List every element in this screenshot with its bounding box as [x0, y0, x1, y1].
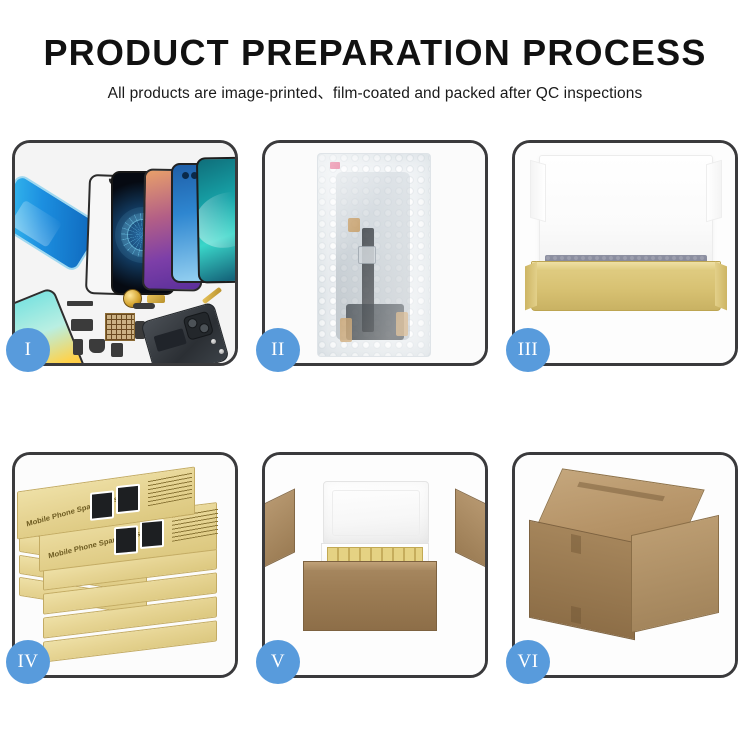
screw-tray-part: [105, 313, 135, 341]
flex-strip-part: [67, 301, 93, 306]
carton-body: [303, 561, 437, 631]
bubble-wrap-bag: [317, 153, 431, 357]
step-badge-ii: II: [256, 328, 300, 372]
step-panel-vi[interactable]: VI: [512, 452, 738, 678]
step-panel-v[interactable]: V: [262, 452, 488, 678]
carton-flap-right: [455, 488, 485, 577]
phone-back-housing: [140, 302, 230, 363]
step-image-i: [15, 143, 235, 363]
step-image-v: [265, 455, 485, 675]
step-badge-iv: IV: [6, 640, 50, 684]
carton-side-face: [631, 515, 719, 633]
step-panel-i[interactable]: I: [12, 140, 238, 366]
step-image-ii: [265, 143, 485, 363]
page-title: PRODUCT PREPARATION PROCESS: [0, 34, 750, 72]
flex-cable-part: [133, 303, 155, 309]
phone-screen-teal: [196, 157, 235, 284]
speaker-part: [89, 339, 105, 353]
carton-tape-tab: [571, 606, 581, 624]
screw-part: [211, 339, 216, 344]
kraft-box-tray: [531, 261, 721, 311]
bubble-wrap-glare: [318, 154, 430, 356]
gold-connector-part: [147, 295, 165, 303]
product-preparation-infographic: PRODUCT PREPARATION PROCESS All products…: [0, 0, 750, 750]
box-screen-thumb: [114, 525, 138, 555]
box-screen-thumb: [140, 519, 164, 549]
bracket-part: [71, 319, 93, 331]
box-screen-thumb: [116, 484, 140, 515]
step-badge-i: I: [6, 328, 50, 372]
step-panel-iv[interactable]: Mobile Phone Spare Parts Mobile Phone Sp…: [12, 452, 238, 678]
header: PRODUCT PREPARATION PROCESS All products…: [0, 0, 750, 103]
carton-tape-tab: [571, 534, 581, 554]
step-image-vi: [515, 455, 735, 675]
step-badge-v: V: [256, 640, 300, 684]
step-badge-vi: VI: [506, 640, 550, 684]
step-panel-ii[interactable]: II: [262, 140, 488, 366]
stacked-boxes: Mobile Phone Spare Parts Mobile Phone Sp…: [15, 455, 235, 675]
carton-flap-left: [265, 488, 295, 577]
step-panel-iii[interactable]: III: [512, 140, 738, 366]
step-badge-iii: III: [506, 328, 550, 372]
step-image-iv: Mobile Phone Spare Parts Mobile Phone Sp…: [15, 455, 235, 675]
screw-part: [219, 349, 224, 354]
steps-grid: I II: [12, 140, 738, 678]
styrofoam-lid: [323, 481, 429, 545]
page-subtitle: All products are image-printed、film-coat…: [0, 81, 750, 103]
tweezer-tool: [202, 287, 222, 304]
step-image-iii: [515, 143, 735, 363]
box-screen-thumb: [90, 490, 114, 521]
small-bracket-part: [73, 339, 83, 355]
camera-module-part: [111, 343, 123, 357]
